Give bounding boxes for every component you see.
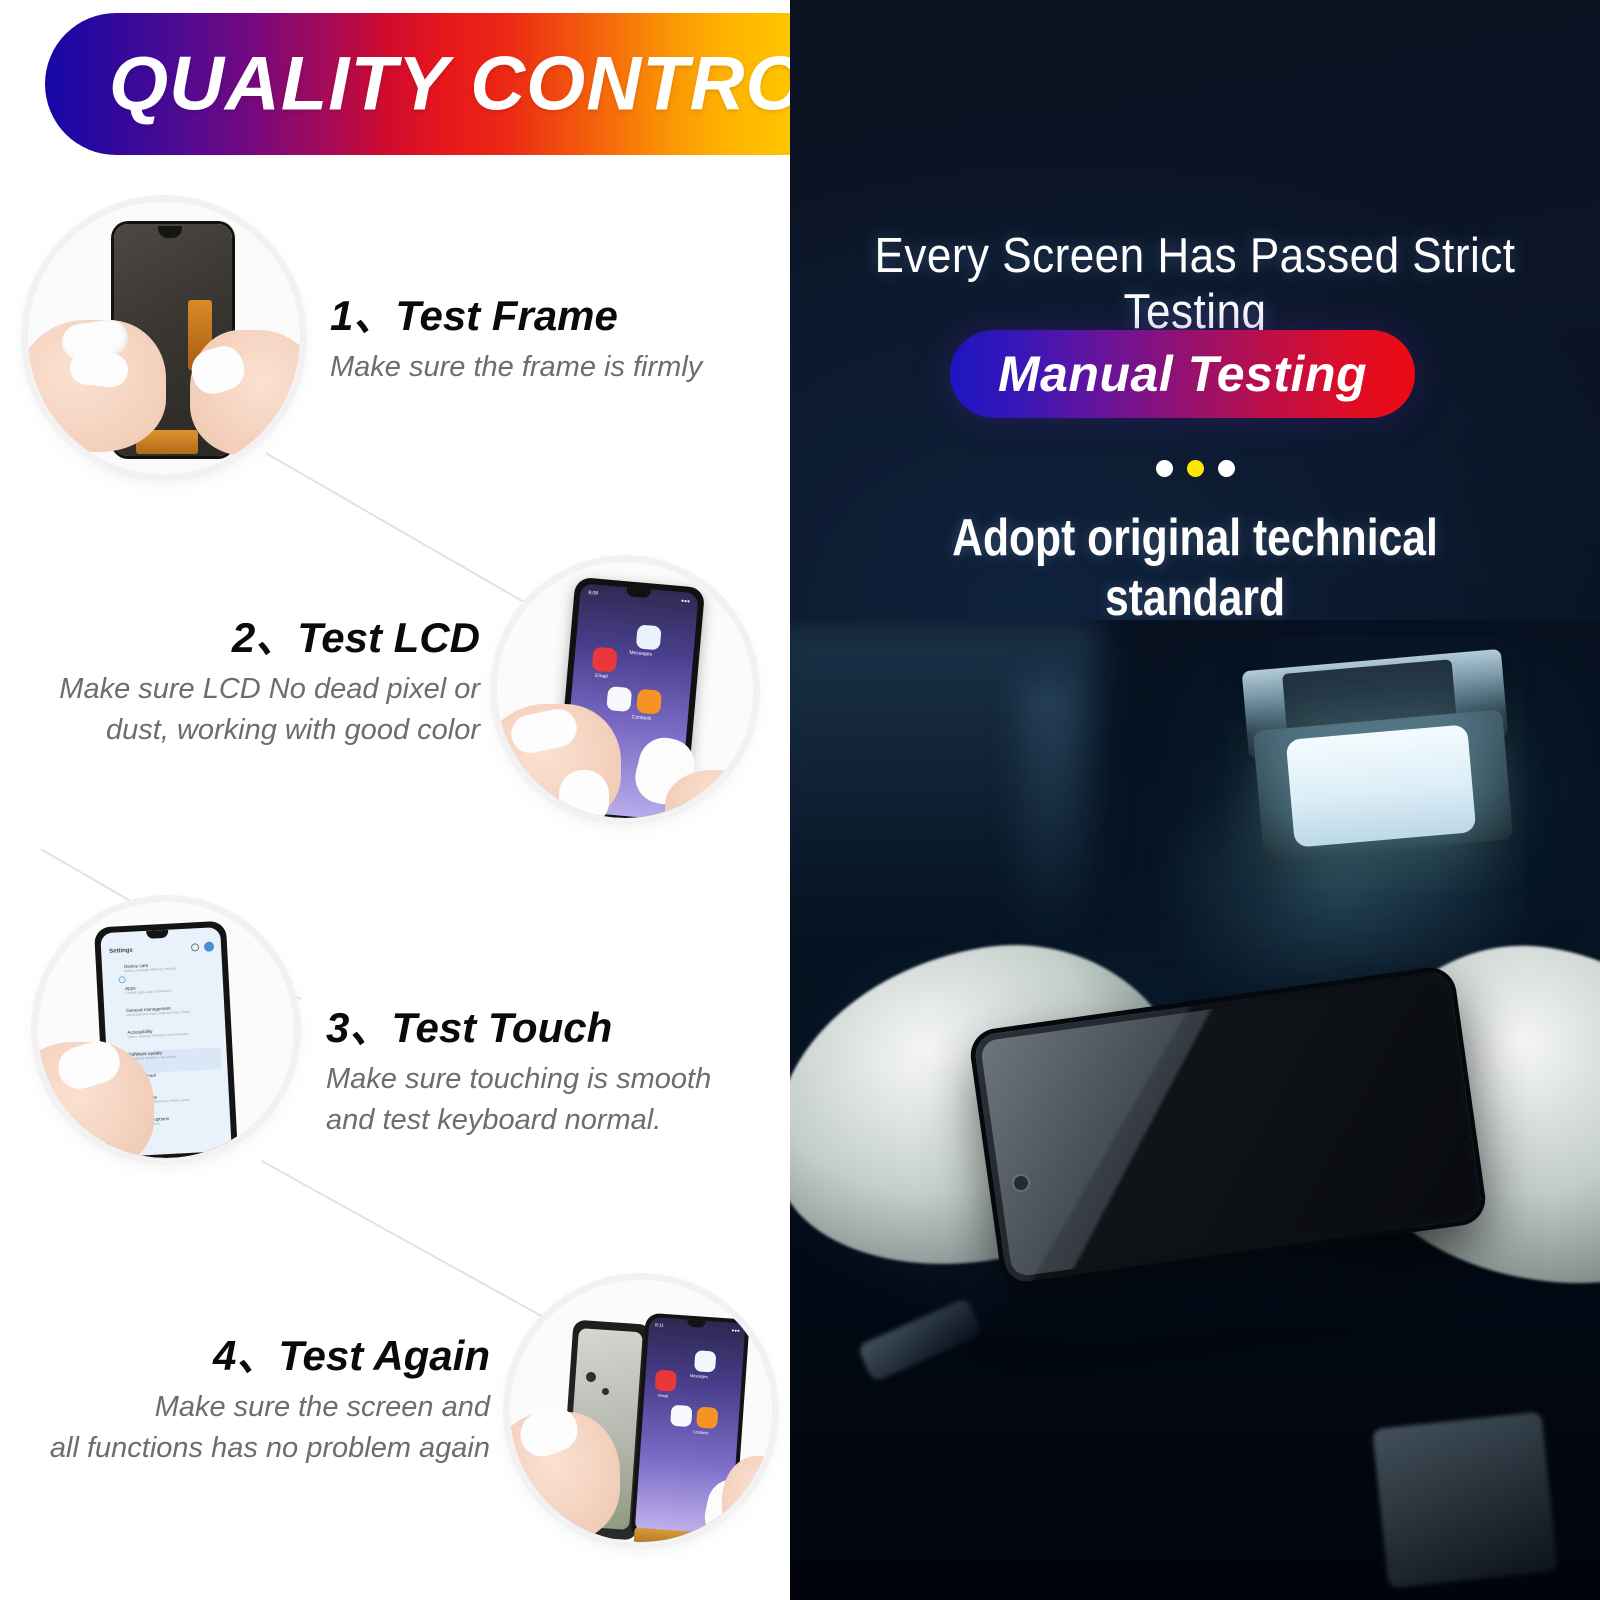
step-3-text: 3、Test Touch Make sure touching is smoot…: [326, 1004, 756, 1141]
dot-indicator-group: [790, 460, 1600, 477]
dot-3: [1218, 460, 1235, 477]
step-3-photo: Settings Device careBattery, Storage, Me…: [38, 902, 294, 1158]
step-2-photo: 8:08 ●●● Messages Email Contacts: [497, 562, 753, 818]
step-1-title: 1、Test Frame: [330, 292, 750, 339]
connector-3-4: [261, 1160, 542, 1317]
step-1-desc: Make sure the frame is firmly: [330, 347, 750, 388]
quality-control-infographic: QUALITY CONTRO: [0, 0, 1600, 1600]
step-1-text: 1、Test Frame Make sure the frame is firm…: [330, 292, 750, 388]
inspection-lamp-light: [1286, 724, 1477, 847]
step-4-text: 4、Test Again Make sure the screen and al…: [10, 1332, 490, 1469]
right-panel: Every Screen Has Passed Strict Testing M…: [790, 0, 1600, 1600]
step-3-desc: Make sure touching is smooth and test ke…: [326, 1059, 756, 1141]
step-2-text: 2、Test LCD Make sure LCD No dead pixel o…: [40, 614, 480, 751]
right-panel-headline: Every Screen Has Passed Strict Testing: [831, 228, 1560, 340]
background-post: [1020, 680, 1078, 960]
dot-2: [1187, 460, 1204, 477]
inspection-scene-photo: [790, 620, 1600, 1600]
step-4-desc: Make sure the screen and all functions h…: [10, 1387, 490, 1469]
left-panel: QUALITY CONTRO: [0, 0, 790, 1600]
step-2-title: 2、Test LCD: [40, 614, 480, 661]
step-2-desc: Make sure LCD No dead pixel or dust, wor…: [40, 669, 480, 751]
quality-control-banner: QUALITY CONTRO: [45, 13, 790, 155]
step-3-title: 3、Test Touch: [326, 1004, 756, 1051]
banner-title: QUALITY CONTRO: [109, 41, 790, 128]
step-1-photo: [28, 202, 300, 474]
manual-testing-badge: Manual Testing: [950, 330, 1415, 418]
workbench-item: [1372, 1412, 1558, 1589]
dot-1: [1156, 460, 1173, 477]
manual-testing-label: Manual Testing: [998, 345, 1367, 403]
connector-1-2: [265, 452, 552, 619]
step-4-photo: 8:11 ●●● Messages Email Contacts: [510, 1280, 772, 1542]
right-panel-subheadline: Adopt original technical standard: [863, 508, 1527, 628]
step-4-title: 4、Test Again: [10, 1332, 490, 1379]
phone-camera-dot: [1014, 1176, 1028, 1190]
